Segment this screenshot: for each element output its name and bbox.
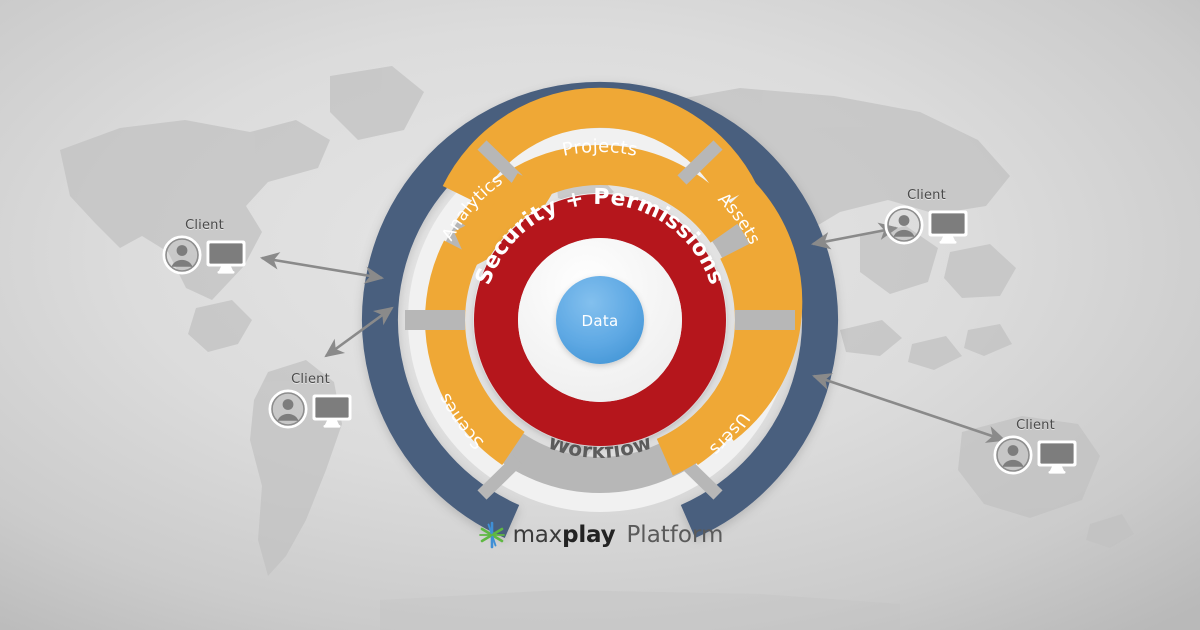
monitor-icon [1036, 439, 1078, 475]
client-node-3[interactable]: Client [884, 188, 969, 245]
brand-logo[interactable]: maxplay Platform [0, 520, 1200, 550]
client-icons [884, 205, 969, 245]
monitor-icon [205, 239, 247, 275]
client-icons [162, 235, 247, 275]
client-node-4[interactable]: Client [993, 418, 1078, 475]
logo-platform: Platform [626, 522, 723, 548]
client-label: Client [291, 372, 330, 387]
maxplay-starburst-icon [477, 520, 507, 550]
user-avatar-icon [993, 435, 1033, 475]
client-icons [268, 389, 353, 429]
connector-client-1 [262, 258, 382, 278]
user-avatar-icon [884, 205, 924, 245]
client-label: Client [907, 188, 946, 203]
logo-play: play [562, 522, 615, 548]
monitor-icon [927, 209, 969, 245]
client-label: Client [185, 218, 224, 233]
user-avatar-icon [162, 235, 202, 275]
monitor-icon [311, 393, 353, 429]
client-label: Client [1016, 418, 1055, 433]
logo-max: max [513, 522, 563, 548]
user-avatar-icon [268, 389, 308, 429]
client-node-2[interactable]: Client [268, 372, 353, 429]
client-node-1[interactable]: Client [162, 218, 247, 275]
core-data-label: Data [581, 312, 618, 330]
client-icons [993, 435, 1078, 475]
divider-left [405, 310, 465, 330]
logo-wordmark: maxplay [513, 522, 616, 548]
divider-right [735, 310, 795, 330]
diagram-canvas: API Workflow [0, 0, 1200, 630]
connector-client-4 [814, 376, 1004, 440]
